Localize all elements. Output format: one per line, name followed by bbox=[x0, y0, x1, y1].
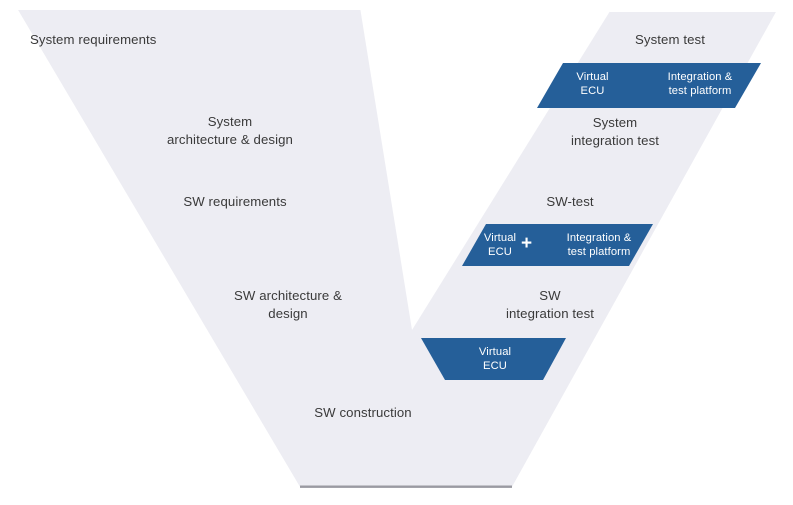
stage-label-sw-requirements: SW requirements bbox=[90, 193, 380, 211]
band1-integration-platform-label: Integration & test platform bbox=[640, 70, 760, 98]
stage-label-sw-construction: SW construction bbox=[238, 404, 488, 422]
plus-icon: + bbox=[521, 234, 532, 253]
stage-label-sw-test: SW-test bbox=[470, 193, 670, 211]
stage-label-system-requirements: System requirements bbox=[30, 31, 260, 49]
stage-label-system-architecture-design: System architecture & design bbox=[85, 113, 375, 149]
band3-virtual-ecu-label: Virtual ECU bbox=[432, 345, 558, 373]
band2-integration-platform-label: Integration & test platform bbox=[543, 231, 655, 259]
baseline-rule bbox=[300, 486, 512, 488]
stage-label-system-integration-test: System integration test bbox=[500, 114, 730, 150]
v-model-diagram: System requirements System architecture … bbox=[0, 0, 793, 505]
stage-label-system-test: System test bbox=[560, 31, 780, 49]
band1-virtual-ecu-label: Virtual ECU bbox=[545, 70, 640, 98]
stage-label-sw-integration-test: SW integration test bbox=[440, 287, 660, 323]
stage-label-sw-architecture-design: SW architecture & design bbox=[163, 287, 413, 323]
